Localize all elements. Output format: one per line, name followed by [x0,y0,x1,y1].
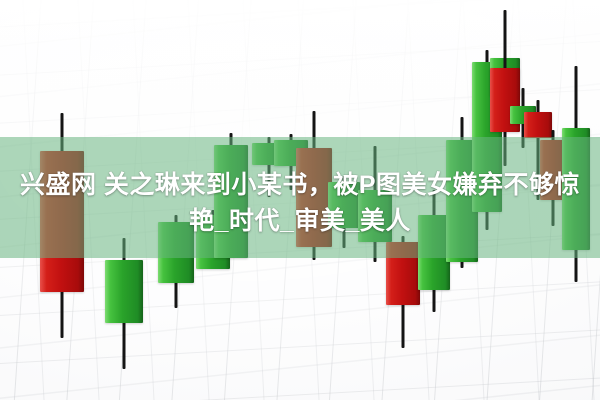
caption-line-2: 艳_时代_审美_美人 [0,204,600,238]
candlestick-chart-image: 兴盛网 关之琳来到小某书，被P图美女嫌弃不够惊 艳_时代_审美_美人 [0,0,600,400]
caption-line-1: 兴盛网 关之琳来到小某书，被P图美女嫌弃不够惊 [0,168,600,202]
candle-body [105,260,143,323]
candle-body [386,242,420,305]
